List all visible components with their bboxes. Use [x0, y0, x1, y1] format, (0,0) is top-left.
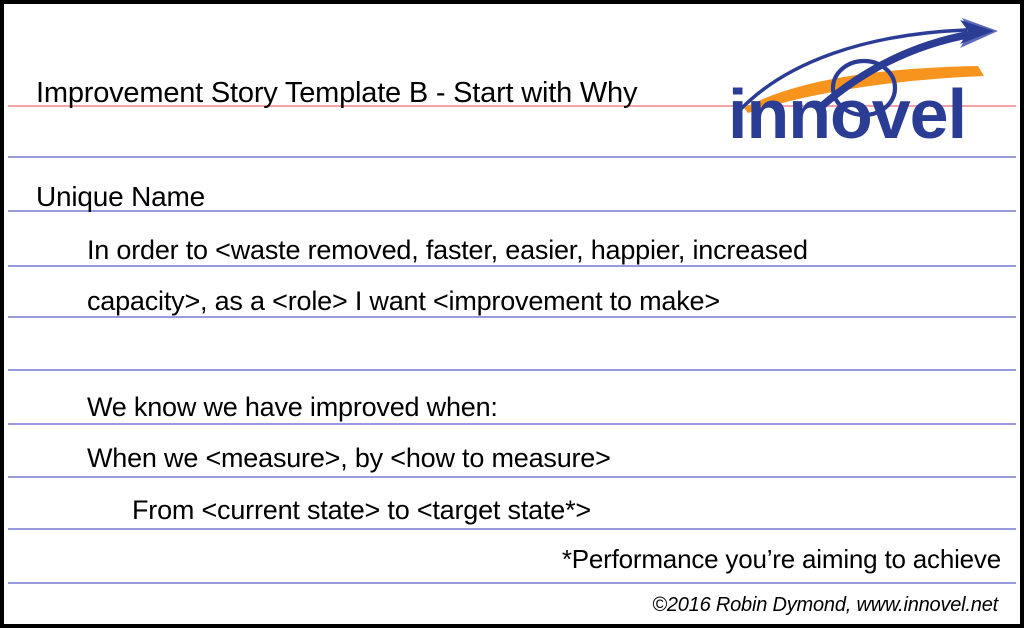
body-line-2: capacity>, as a <role> I want <improveme…: [87, 286, 720, 316]
body-line-5: From <current state> to <target state*>: [132, 495, 591, 525]
footnote-performance: *Performance you’re aiming to achieve: [562, 545, 1001, 573]
unique-name-heading: Unique Name: [36, 182, 205, 212]
page-title: Improvement Story Template B - Start wit…: [36, 78, 637, 108]
copyright-notice: ©2016 Robin Dymond, www.innovel.net: [652, 594, 998, 616]
body-line-4: When we <measure>, by <how to measure>: [87, 443, 611, 473]
body-line-3: We know we have improved when:: [87, 392, 498, 422]
innovel-logo: innovel: [726, 14, 1016, 144]
logo-wordmark: innovel: [728, 75, 966, 144]
slide-canvas: innovel Improvement Story Template B - S…: [0, 0, 1024, 628]
body-line-1: In order to <waste removed, faster, easi…: [87, 235, 808, 265]
